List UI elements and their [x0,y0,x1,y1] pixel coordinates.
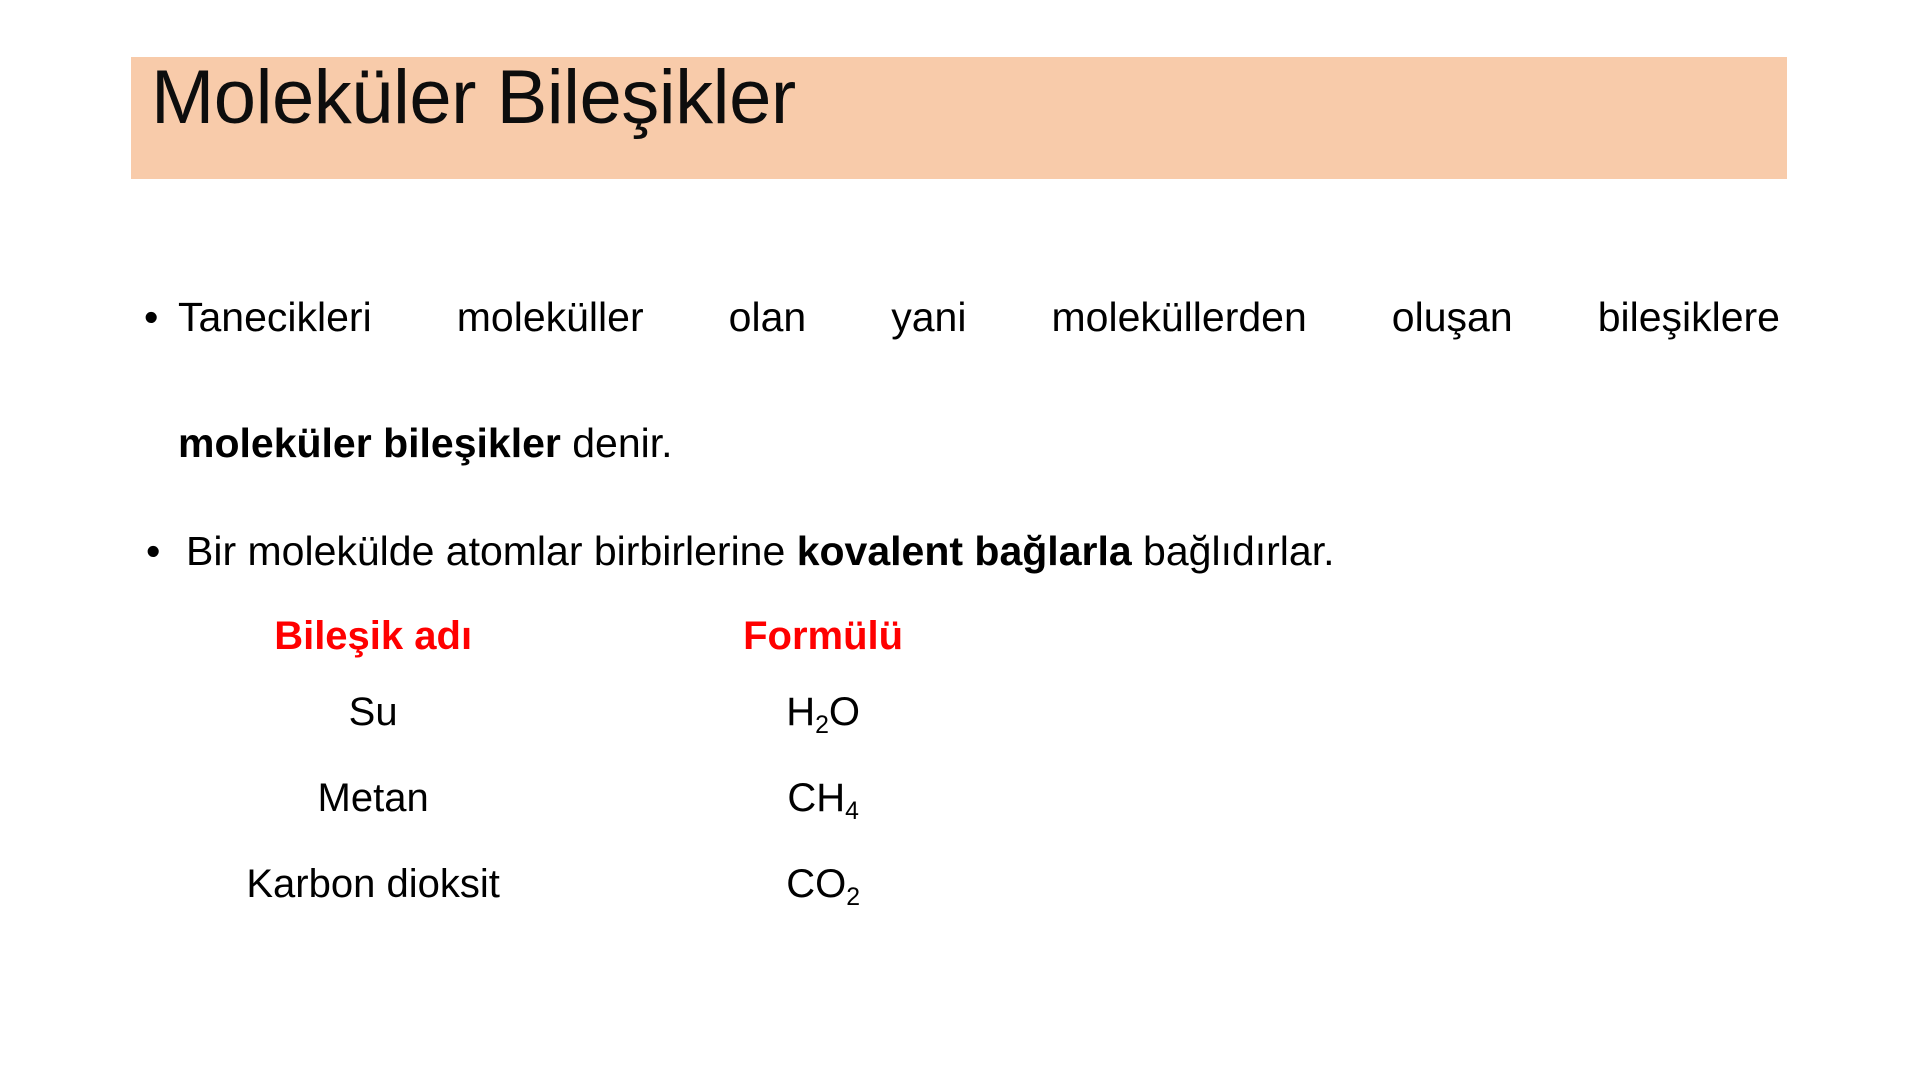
body-content: Tanecikleri moleküller olan yani molekül… [140,286,1780,583]
cell-formula: CO2 [606,844,1040,930]
slide: Moleküler Bileşikler Tanecikleri molekül… [0,0,1920,1080]
table-row: Karbon dioksit CO2 [140,844,1040,930]
page-title: Moleküler Bileşikler [151,52,796,144]
table-row: Metan CH4 [140,758,1040,844]
bullet-item-2: Bir molekülde atomlar birbirlerine koval… [140,520,1780,583]
cell-compound-name: Karbon dioksit [140,844,606,930]
column-header-formula: Formülü [606,600,1040,672]
formula-base: CO [786,862,846,906]
formula-subscript: 2 [846,884,860,911]
bullet-2-pre: Bir molekülde atomlar birbirlerine [186,528,797,574]
bullet-2-bold: kovalent bağlarla [797,528,1132,574]
bullet-2-post: bağlıdırlar. [1132,528,1335,574]
table-row: Su H2O [140,672,1040,758]
formula-subscript: 2 [815,712,829,739]
column-header-compound-name: Bileşik adı [140,600,606,672]
bullet-1-bold: moleküler bileşikler [178,420,561,466]
formula-base-2: O [829,690,860,734]
formula-base: H [786,690,815,734]
table-header-row: Bileşik adı Formülü [140,600,1040,672]
bullet-1-line-2-rest: denir. [561,420,673,466]
bullet-1-line-1: Tanecikleri moleküller olan yani molekül… [178,286,1780,412]
bullet-item-1: Tanecikleri moleküller olan yani molekül… [140,286,1780,475]
cell-formula: CH4 [606,758,1040,844]
cell-compound-name: Metan [140,758,606,844]
compound-table: Bileşik adı Formülü Su H2O Metan CH4 Kar… [140,600,1040,930]
cell-formula: H2O [606,672,1040,758]
formula-subscript: 4 [845,798,859,825]
formula-base: CH [787,776,845,820]
cell-compound-name: Su [140,672,606,758]
